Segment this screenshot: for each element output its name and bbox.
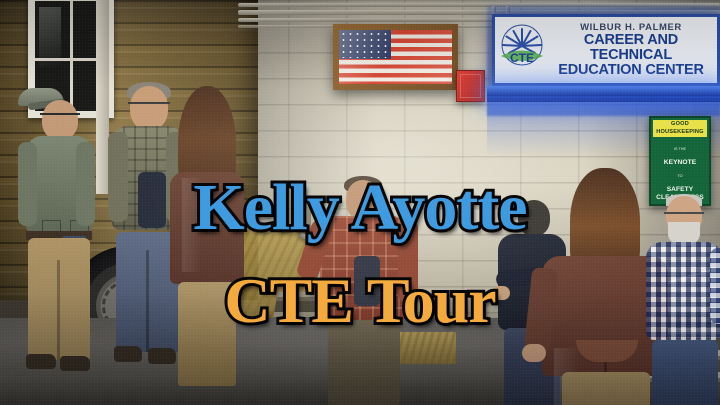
person-woman-leather-jacket-left: [168, 86, 246, 391]
person-man-rust-plaid-flannel: [310, 180, 420, 405]
boot-left: [26, 354, 56, 369]
safety-sign-word-small: IS THE: [674, 147, 686, 152]
person-man-cap-olive-shirt: [18, 88, 96, 388]
fire-extinguisher-cabinet: [456, 70, 485, 102]
torso-gingham-shirt: [646, 242, 720, 340]
cte-sign-line1: WILBUR H. PALMER: [547, 23, 715, 33]
legs-khaki-pants: [178, 282, 236, 386]
legs-khaki-pants: [562, 372, 650, 405]
safety-sign-header-line1: GOOD: [653, 121, 707, 129]
safety-sign-header-line2: HOUSEKEEPING: [653, 129, 707, 137]
hand-gesturing: [522, 344, 546, 362]
cte-sign-text: WILBUR H. PALMER CAREER AND TECHNICAL ED…: [547, 23, 717, 78]
boot-left: [114, 346, 142, 362]
arm-right: [76, 142, 95, 226]
cte-logo-icon: CTE: [497, 23, 547, 77]
glasses-icon: [128, 102, 170, 111]
glasses-icon: [664, 212, 704, 220]
american-flag-icon: [339, 30, 452, 84]
video-thumbnail: CTE WILBUR H. PALMER CAREER AND TECHNICA…: [0, 0, 720, 405]
arm-left: [18, 142, 37, 226]
hand: [492, 286, 510, 300]
arm-left: [108, 132, 128, 222]
legs-khaki-pants: [28, 238, 90, 360]
scene-photo: CTE WILBUR H. PALMER CAREER AND TECHNICA…: [0, 0, 720, 405]
framed-american-flag: [333, 24, 458, 90]
arm-right: [398, 220, 418, 302]
boot-right: [60, 356, 90, 371]
cte-sign-line3: EDUCATION CENTER: [547, 63, 715, 78]
arm-right-on-hip: [710, 248, 720, 324]
safety-sign-header: GOOD HOUSEKEEPING: [653, 120, 707, 137]
legs-work-pants: [328, 320, 400, 405]
glasses-icon: [40, 113, 80, 122]
torso-leather-jacket: [170, 172, 244, 284]
head: [346, 180, 380, 220]
safety-sign-word-small: TO: [677, 174, 682, 179]
safety-sign-line: IS THE: [653, 139, 707, 159]
person-bearded-man-gingham-shirt: [648, 196, 720, 405]
torso-rust-flannel: [320, 216, 408, 320]
legs-jeans: [652, 340, 718, 405]
safety-sign-word-large: KEYNOTE: [653, 159, 707, 167]
cte-sign: CTE WILBUR H. PALMER CAREER AND TECHNICA…: [492, 14, 720, 86]
svg-text:CTE: CTE: [510, 51, 534, 65]
cte-sign-line2: CAREER AND TECHNICAL: [547, 33, 715, 62]
